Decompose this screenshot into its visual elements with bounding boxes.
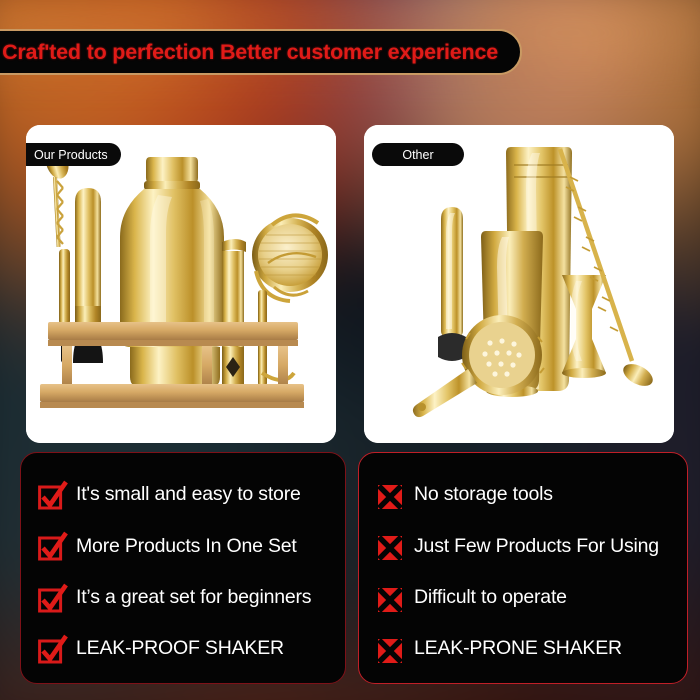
list-item: Just Few Products For Using — [375, 526, 675, 566]
our-products-badge-label: Our Products — [34, 148, 108, 162]
other-drawback-list: No storage tools Just Few Products For U… — [358, 452, 688, 684]
checkmark-icon — [37, 634, 67, 664]
cross-icon — [375, 531, 405, 561]
list-item-label: Just Few Products For Using — [414, 537, 659, 557]
list-item: No storage tools — [375, 475, 675, 515]
our-products-badge: Our Products — [26, 143, 121, 166]
list-item-label: LEAK-PRONE SHAKER — [414, 639, 622, 659]
list-item-label: No storage tools — [414, 485, 553, 505]
our-products-column: Our Products — [26, 125, 336, 443]
list-item: It’s a great set for beginners — [37, 578, 333, 618]
cross-icon — [375, 583, 405, 613]
other-badge-label: Other — [402, 148, 433, 162]
list-item-label: It's small and easy to store — [76, 485, 301, 505]
our-products-benefit-list: It's small and easy to store More Produc… — [20, 452, 346, 684]
checkmark-icon — [37, 480, 67, 510]
list-item-label: More Products In One Set — [76, 537, 297, 557]
list-item: It's small and easy to store — [37, 475, 333, 515]
list-item: Difficult to operate — [375, 578, 675, 618]
our-products-photo-panel: Our Products — [26, 125, 336, 443]
list-item: LEAK-PROOF SHAKER — [37, 629, 333, 669]
boston-shaker-set-illustration — [364, 125, 674, 443]
other-photo — [364, 125, 674, 443]
other-column: Other — [364, 125, 674, 443]
headline-banner-text: Craf'ted to perfection Better customer e… — [2, 40, 498, 65]
list-item-label: LEAK-PROOF SHAKER — [76, 639, 284, 659]
checkmark-icon — [37, 531, 67, 561]
cross-icon — [375, 480, 405, 510]
list-item: LEAK-PRONE SHAKER — [375, 629, 675, 669]
our-products-photo — [26, 125, 336, 443]
other-badge: Other — [372, 143, 464, 166]
comparison-infographic: Craf'ted to perfection Better customer e… — [0, 0, 700, 700]
cross-icon — [375, 634, 405, 664]
bar-set-with-stand-illustration — [26, 125, 336, 443]
list-item: More Products In One Set — [37, 526, 333, 566]
headline-banner: Craf'ted to perfection Better customer e… — [0, 29, 522, 75]
list-item-label: It’s a great set for beginners — [76, 588, 311, 608]
list-item-label: Difficult to operate — [414, 588, 567, 608]
checkmark-icon — [37, 583, 67, 613]
other-photo-panel: Other — [364, 125, 674, 443]
